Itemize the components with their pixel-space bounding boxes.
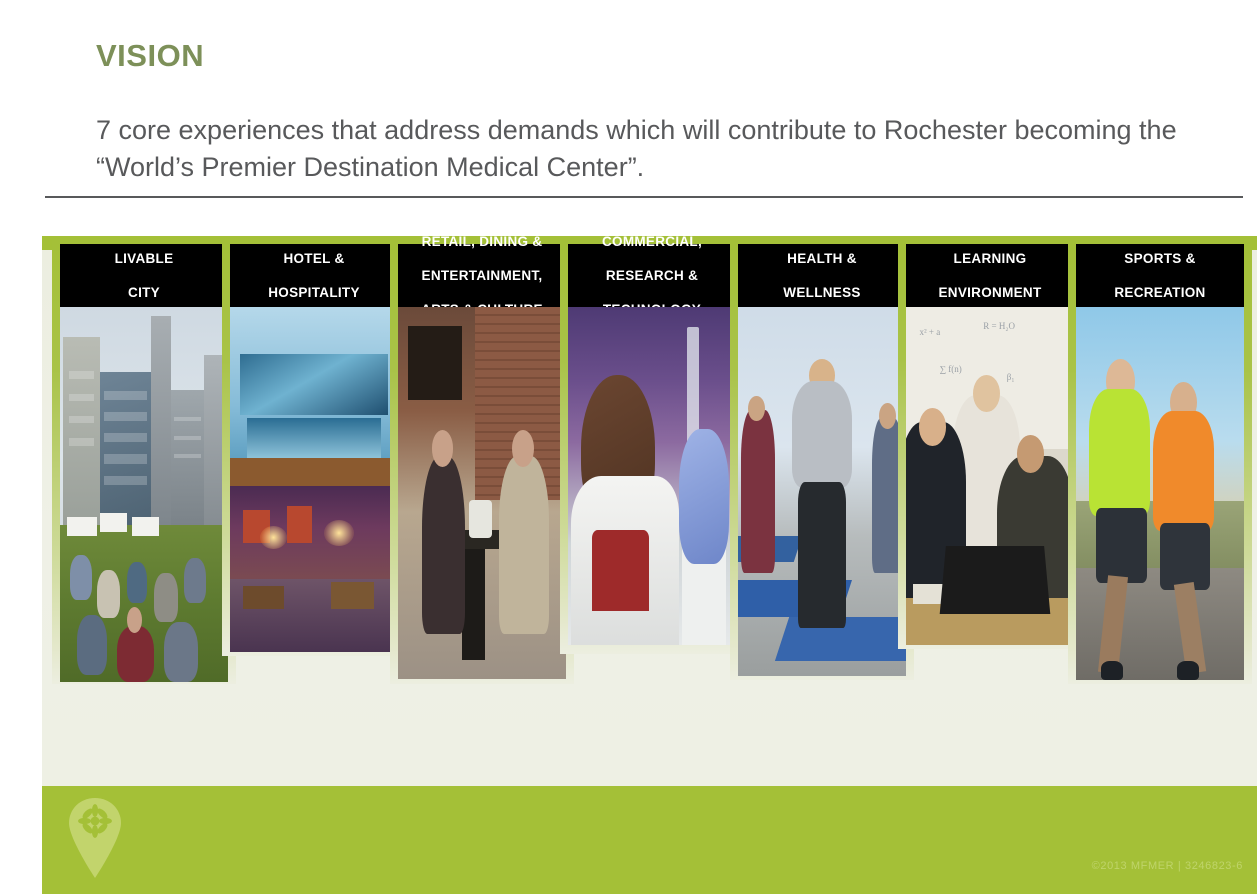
column-content: RETAIL, DINING & ENTERTAINMENT, ARTS & C… [398,244,566,679]
column-content: LIVABLE CITY [60,244,228,682]
dmc-pin-logo [62,794,128,882]
column-title-line-1: HEALTH & [742,250,902,267]
column-title-line-1: HOTEL & [234,250,394,267]
column-title-line-2: WELLNESS [742,284,902,301]
page-title: VISION [96,38,204,74]
column-header: HOTEL & HOSPITALITY [230,244,398,307]
column-title-line-2: ENVIRONMENT [910,284,1070,301]
column-header: SPORTS & RECREATION [1076,244,1244,307]
yoga-class-photo [738,307,906,676]
column-title-line-1: SPORTS & [1080,250,1240,267]
column-title-line-1: COMMERCIAL, [572,233,732,250]
hotel-night-street-photo [230,307,398,652]
column-header: LIVABLE CITY [60,244,228,307]
column-title-line-1: LEARNING [910,250,1070,267]
header-divider [45,196,1243,198]
column-title-line-2: ENTERTAINMENT, [402,267,562,284]
column-title-line-2: RECREATION [1080,284,1240,301]
column-content: SPORTS & RECREATION [1076,244,1244,680]
column-title-line-2: RESEARCH & [572,267,732,284]
column-header: HEALTH & WELLNESS [738,244,906,307]
column-content: HOTEL & HOSPITALITY [230,244,398,652]
experience-columns: LIVABLE CITY [42,236,1257,696]
column-content: COMMERCIAL, RESEARCH & TECHNOLOGY [568,244,736,645]
column-header: RETAIL, DINING & ENTERTAINMENT, ARTS & C… [398,244,566,307]
students-laptop-photo: x² + a R = H₂O ∑ f(n) β₁ [906,307,1074,645]
city-crowd-lawn-photo [60,307,228,682]
copyright-text: ©2013 MFMER | 3246823-6 [1092,860,1243,872]
column-content: LEARNING ENVIRONMENT x² + a R = H₂O ∑ f(… [906,244,1074,645]
column-title-line-2: HOSPITALITY [234,284,394,301]
column-header: COMMERCIAL, RESEARCH & TECHNOLOGY [568,244,736,307]
lab-scientist-photo [568,307,736,645]
experiences-panel: LIVABLE CITY [42,236,1257,786]
column-title-line-1: LIVABLE [64,250,224,267]
cafe-couple-photo [398,307,566,679]
slide-subtitle: 7 core experiences that address demands … [96,112,1236,186]
column-title-line-1: RETAIL, DINING & [402,233,562,250]
column-title-line-2: CITY [64,284,224,301]
slide-footer: ©2013 MFMER | 3246823-6 [42,786,1257,894]
column-header: LEARNING ENVIRONMENT [906,244,1074,307]
runners-photo [1076,307,1244,680]
column-content: HEALTH & WELLNESS [738,244,906,676]
